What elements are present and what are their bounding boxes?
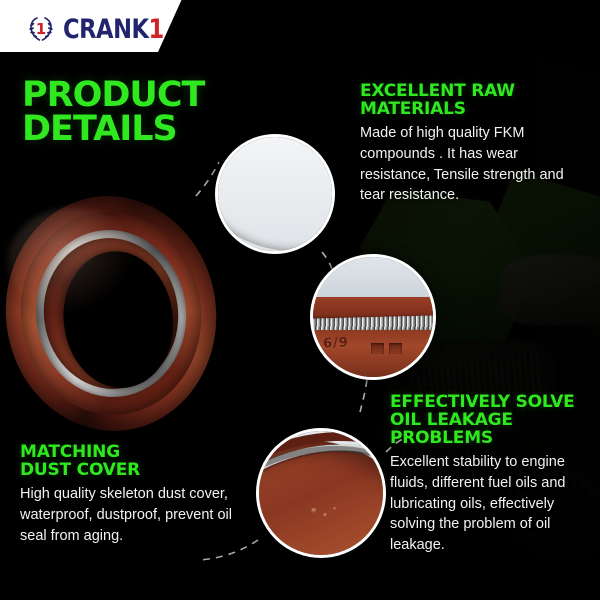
- callout-circle-raw-material: [215, 134, 335, 254]
- callout-spring-image: 6/9: [313, 257, 433, 377]
- macro-seal-marking: 6/9: [322, 336, 349, 352]
- feature-heading-oil-leakage: EFFECTIVELY SOLVE OIL LEAKAGE PROBLEMS: [390, 393, 590, 447]
- brand-logo[interactable]: 1 CRANK1: [26, 14, 171, 44]
- callout-circle-dust-cover: [256, 428, 386, 558]
- feature-heading-line1: EFFECTIVELY SOLVE: [390, 392, 575, 412]
- callout-dust-cover-image: [259, 431, 383, 555]
- brand-name-primary: CRANK: [63, 14, 149, 45]
- feature-heading-line3: PROBLEMS: [390, 428, 493, 448]
- feature-heading-line1: EXCELLENT RAW: [360, 81, 515, 101]
- macro-metal-hairline: [215, 134, 335, 254]
- feature-block-raw-materials: EXCELLENT RAW MATERIALS Made of high qua…: [360, 82, 582, 206]
- macro-oil-droplet: [333, 507, 337, 510]
- callout-circle-spring: 6/9: [310, 254, 436, 380]
- feature-body-raw-materials: Made of high quality FKM compounds . It …: [360, 123, 582, 206]
- page-title-line2: DETAILS: [22, 112, 204, 146]
- feature-body-oil-leakage: Excellent stability to engine fluids, di…: [390, 452, 590, 556]
- callout-raw-material-image: [218, 137, 332, 251]
- page-title-line1: PRODUCT: [22, 78, 204, 112]
- feature-heading-raw-materials: EXCELLENT RAW MATERIALS: [360, 82, 582, 118]
- feature-heading-line2: MATERIALS: [360, 99, 466, 119]
- feature-block-dust-cover: MATCHING DUST COVER High quality skeleto…: [20, 443, 245, 546]
- feature-heading-dust-cover: MATCHING DUST COVER: [20, 443, 245, 479]
- feature-block-oil-leakage: EFFECTIVELY SOLVE OIL LEAKAGE PROBLEMS E…: [390, 393, 590, 556]
- brand-wordmark: CRANK1: [63, 16, 164, 43]
- feature-heading-line2: DUST COVER: [20, 460, 140, 480]
- macro-oil-droplet: [311, 508, 318, 513]
- product-oil-seal-image: [0, 184, 230, 443]
- page-title: PRODUCT DETAILS: [22, 78, 204, 147]
- macro-notch-1: [371, 343, 384, 354]
- laurel-wreath-icon: 1: [26, 14, 56, 44]
- feature-heading-line1: MATCHING: [20, 442, 120, 462]
- macro-notch-2: [389, 343, 402, 354]
- emblem-number-text: 1: [36, 20, 46, 38]
- brand-name-suffix: 1: [149, 14, 164, 45]
- feature-body-dust-cover: High quality skeleton dust cover, waterp…: [20, 484, 245, 546]
